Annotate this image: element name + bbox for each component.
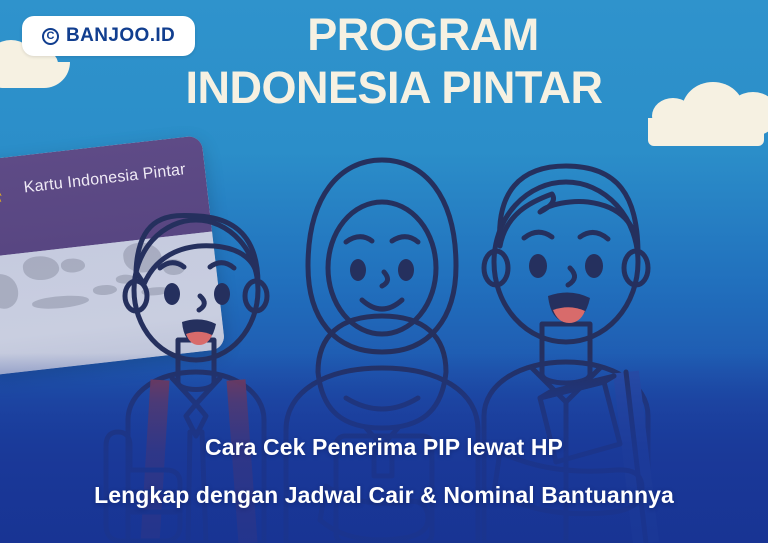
copyright-icon: C bbox=[42, 28, 59, 45]
caption-block: Cara Cek Penerima PIP lewat HP Lengkap d… bbox=[0, 434, 768, 509]
caption-line-2: Lengkap dengan Jadwal Cair & Nominal Ban… bbox=[0, 482, 768, 509]
badge-label: BANJOO.ID bbox=[66, 25, 175, 47]
caption-line-1: Cara Cek Penerima PIP lewat HP bbox=[0, 434, 768, 461]
watermark-badge[interactable]: C BANJOO.ID bbox=[22, 16, 195, 56]
poster-canvas: Kartu Indonesia Pintar bbox=[0, 0, 768, 543]
